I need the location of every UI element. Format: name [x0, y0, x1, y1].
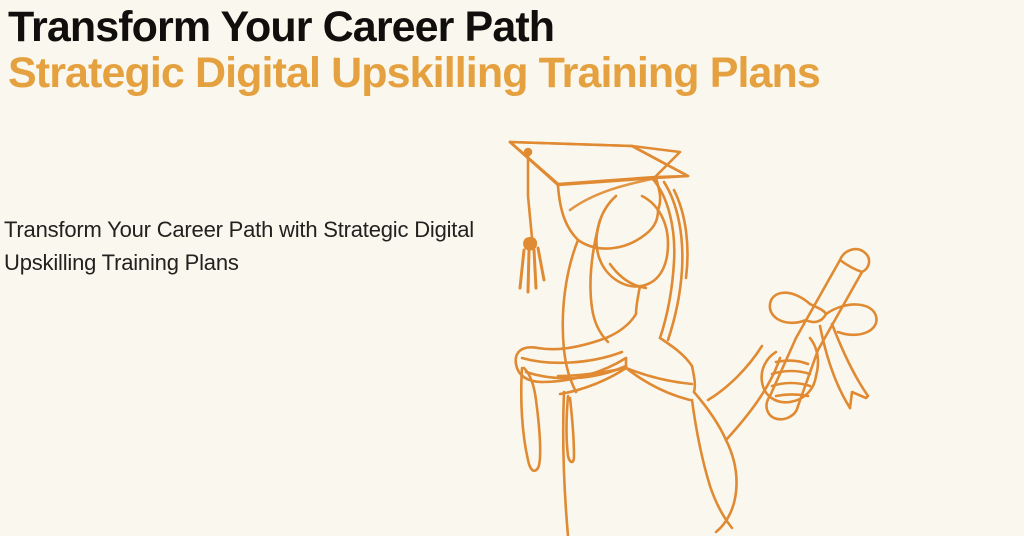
- body-paragraph: Transform Your Career Path with Strategi…: [4, 213, 524, 279]
- graduate-line-art-illustration: [480, 100, 880, 536]
- headline-primary: Transform Your Career Path: [8, 4, 1018, 50]
- promo-banner: Transform Your Career Path Strategic Dig…: [0, 0, 1024, 536]
- headline-block: Transform Your Career Path Strategic Dig…: [8, 4, 1018, 96]
- headline-secondary: Strategic Digital Upskilling Training Pl…: [8, 50, 1018, 96]
